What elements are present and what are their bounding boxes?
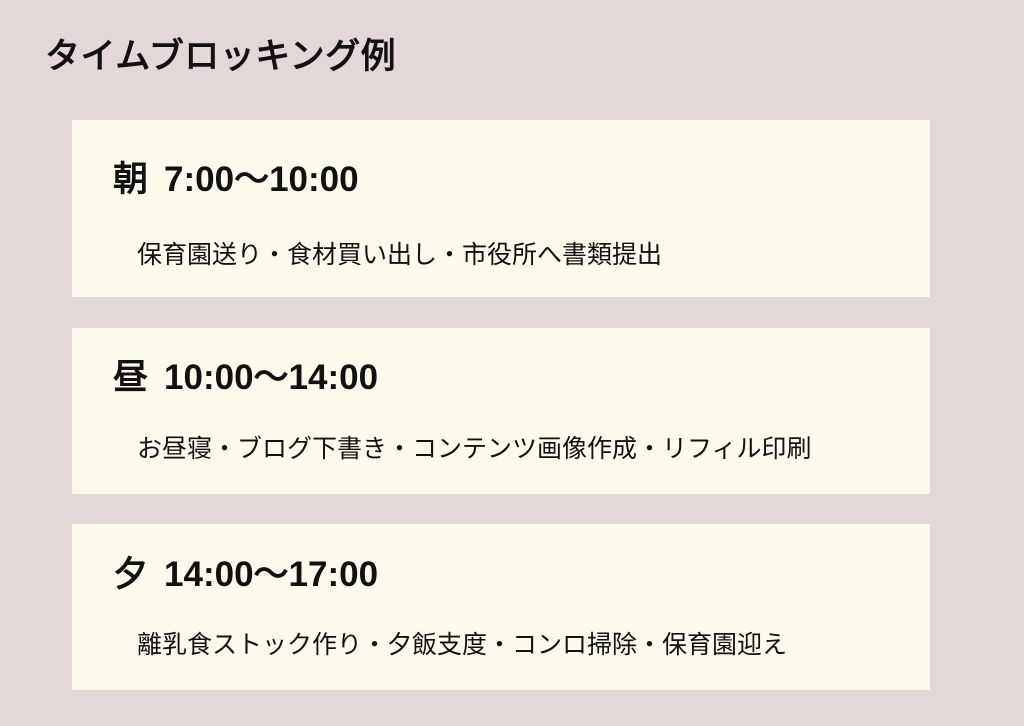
time-block-period-label: 朝	[113, 160, 148, 199]
time-block-tasks: 保育園送り・食材買い出し・市役所へ書類提出	[137, 239, 662, 272]
time-blocking-infographic: タイムブロッキング例 朝7:00〜10:00 保育園送り・食材買い出し・市役所へ…	[0, 0, 1024, 726]
time-block-heading: 昼10:00〜14:00	[113, 358, 378, 398]
time-block-list: 朝7:00〜10:00 保育園送り・食材買い出し・市役所へ書類提出 昼10:00…	[72, 120, 930, 690]
page-title: タイムブロッキング例	[45, 36, 396, 78]
time-block-tasks: お昼寝・ブログ下書き・コンテンツ画像作成・リフィル印刷	[137, 433, 812, 466]
time-block-heading: 朝7:00〜10:00	[113, 160, 359, 200]
time-block-range-label: 14:00〜17:00	[164, 555, 378, 594]
time-block-card-morning: 朝7:00〜10:00 保育園送り・食材買い出し・市役所へ書類提出	[72, 120, 930, 297]
time-block-card-evening: 夕14:00〜17:00 離乳食ストック作り・夕飯支度・コンロ掃除・保育園迎え	[72, 524, 930, 690]
time-block-range-label: 7:00〜10:00	[164, 160, 359, 199]
time-block-period-label: 昼	[113, 358, 148, 397]
time-block-period-label: 夕	[113, 555, 148, 594]
time-block-card-midday: 昼10:00〜14:00 お昼寝・ブログ下書き・コンテンツ画像作成・リフィル印刷	[72, 328, 930, 494]
time-block-range-label: 10:00〜14:00	[164, 358, 378, 397]
time-block-tasks: 離乳食ストック作り・夕飯支度・コンロ掃除・保育園迎え	[137, 629, 787, 662]
time-block-heading: 夕14:00〜17:00	[113, 555, 378, 595]
